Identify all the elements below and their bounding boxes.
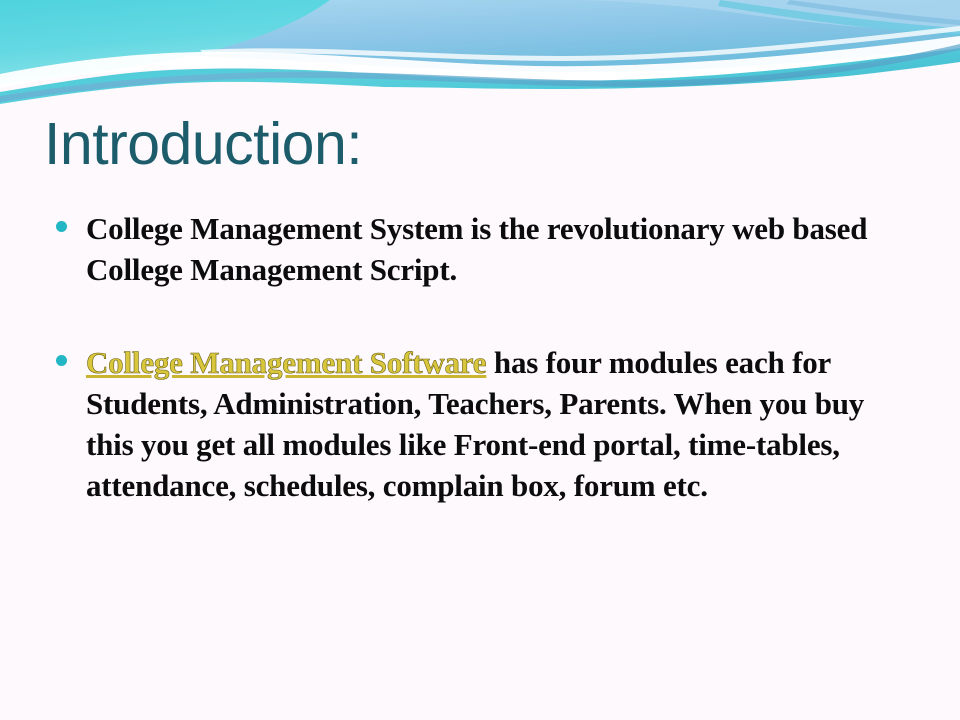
presentation-slide: Introduction: College Management System …: [0, 0, 960, 720]
bullet-text-2: College Management Software has four mod…: [86, 342, 908, 506]
college-management-software-link[interactable]: College Management Software: [86, 345, 486, 380]
list-item: College Management Software has four mod…: [48, 342, 908, 506]
bullet-1-connector: is the revolutionary web based: [463, 211, 867, 246]
product-name-system: College Management System: [86, 211, 463, 246]
product-name-script: College Management Script: [86, 252, 449, 287]
page-title: Introduction:: [44, 112, 362, 176]
wave-banner: [0, 0, 960, 110]
bullet-dot-icon: [56, 355, 67, 366]
bullet-dot-icon: [56, 221, 67, 232]
bullet-text-1: College Management System is the revolut…: [86, 208, 908, 290]
list-item: College Management System is the revolut…: [48, 208, 908, 290]
bullet-list: College Management System is the revolut…: [48, 208, 908, 506]
bullet-1-period: .: [449, 252, 457, 287]
